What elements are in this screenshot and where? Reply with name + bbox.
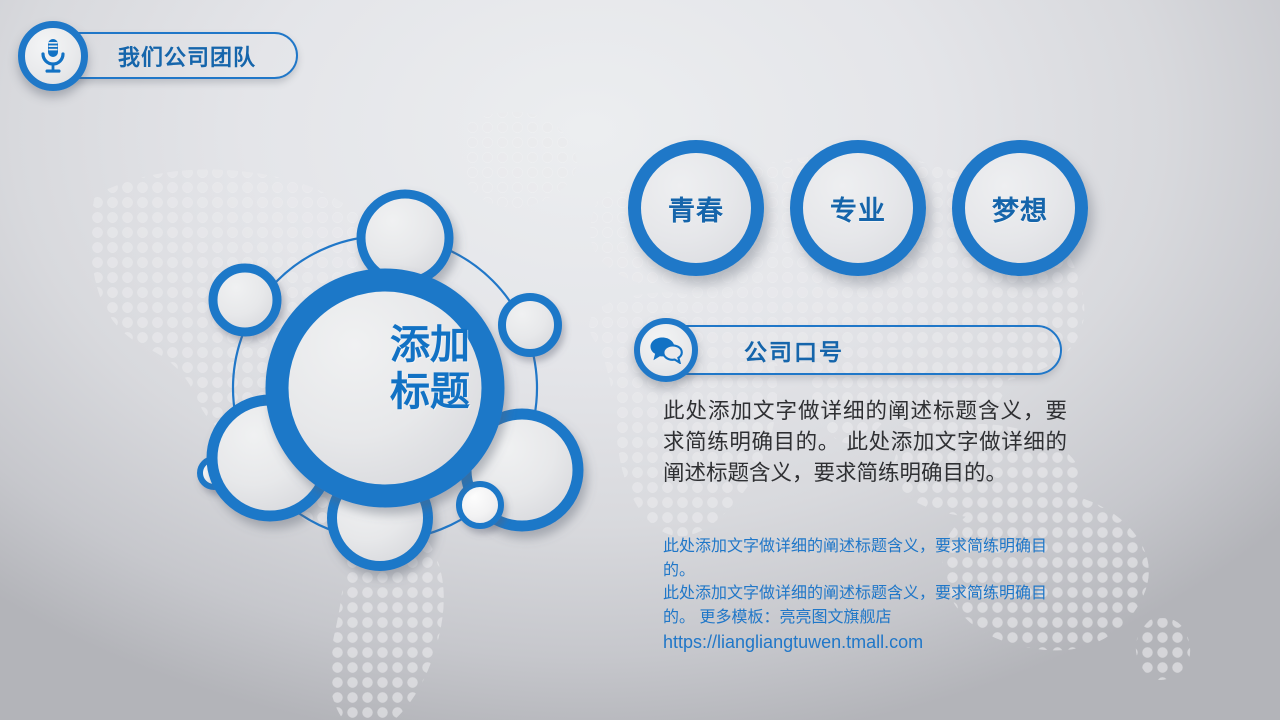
- footer-store-url[interactable]: https://liangliangtuwen.tmall.com: [663, 629, 1075, 655]
- diagram-node-bottom-right-tiny: [459, 484, 501, 526]
- footer-text-block: 此处添加文字做详细的阐述标题含义，要求简练明确目的。 此处添加文字做详细的阐述标…: [663, 535, 1075, 655]
- footer-line-2: 此处添加文字做详细的阐述标题含义，要求简练明确目的。 更多模板：亮亮图文旗舰店: [663, 582, 1075, 629]
- keyword-badge-label: 青春: [668, 189, 724, 228]
- slide-canvas: 我们公司团队: [0, 0, 1280, 720]
- microphone-icon: [18, 21, 88, 91]
- company-slogan-bar: 公司口号: [660, 325, 1062, 375]
- keyword-badge-professional[interactable]: 专业: [790, 140, 926, 276]
- keyword-badge-label: 专业: [830, 189, 886, 228]
- footer-line-1: 此处添加文字做详细的阐述标题含义，要求简练明确目的。: [663, 535, 1075, 582]
- body-paragraph: 此处添加文字做详细的阐述标题含义，要求简练明确目的。 此处添加文字做详细的阐述标…: [663, 396, 1067, 489]
- diagram-node-top: [361, 194, 449, 282]
- diagram-node-left-upper: [213, 268, 277, 332]
- diagram-node-right-small: [502, 297, 558, 353]
- diagram-center-hub: [277, 280, 493, 496]
- company-slogan-title: 公司口号: [744, 333, 844, 367]
- circle-diagram: 添加 标题: [150, 170, 620, 590]
- page-title: 我们公司团队: [118, 40, 256, 72]
- keyword-badge-youth[interactable]: 青春: [628, 140, 764, 276]
- keyword-badge-label: 梦想: [992, 189, 1048, 228]
- keyword-badge-dream[interactable]: 梦想: [952, 140, 1088, 276]
- chat-bubbles-icon: [634, 318, 698, 382]
- keyword-badge-group: 青春 专业 梦想: [628, 140, 1088, 276]
